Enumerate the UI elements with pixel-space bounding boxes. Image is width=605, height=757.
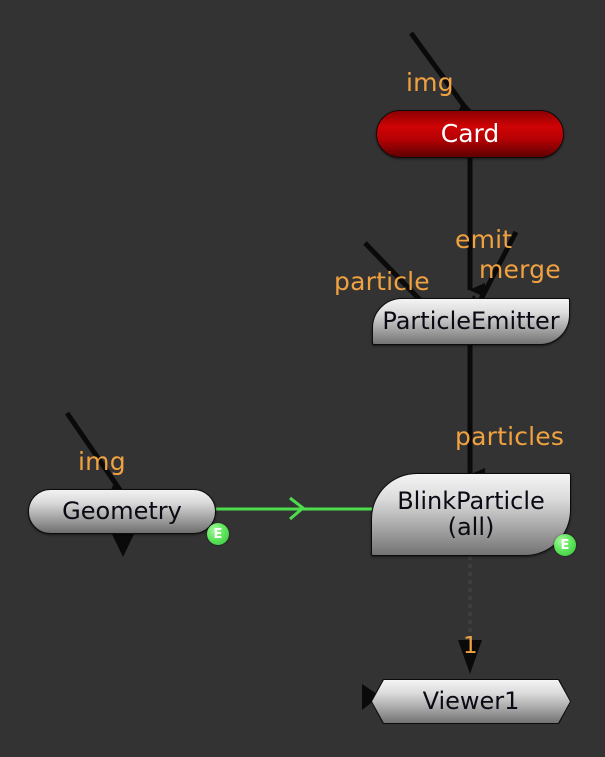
node-viewer1[interactable]: Viewer1 [372,680,570,723]
node-particleemitter-label: ParticleEmitter [382,309,559,334]
node-card-label: Card [441,121,499,148]
edge-label-geometry-img: img [78,447,126,476]
node-graph-canvas[interactable]: img emit merge particle particles img 1 … [0,0,605,757]
edge-stub-geometry-output[interactable] [110,530,136,557]
node-geometry[interactable]: Geometry [28,489,216,534]
node-card[interactable]: Card [376,110,564,158]
edge-label-viewer-input: 1 [463,633,478,659]
node-particleemitter[interactable]: ParticleEmitter [372,298,570,345]
edge-label-card-img: img [406,68,454,97]
edge-label-particles: particles [455,422,564,451]
edge-label-particle: particle [334,267,430,296]
node-geometry-label: Geometry [62,499,182,524]
edge-geometry-to-blinkparticle[interactable] [216,498,381,519]
node-blinkparticle-label-line1: BlinkParticle [397,489,545,514]
node-blinkparticle[interactable]: BlinkParticle (all) [371,473,571,556]
node-viewer1-label: Viewer1 [423,689,520,714]
edge-label-merge: merge [479,255,561,284]
node-blinkparticle-label-line2: (all) [448,515,495,540]
badge-expression-blinkparticle[interactable]: E [554,534,576,556]
badge-expression-geometry[interactable]: E [207,523,229,545]
edge-label-emit: emit [455,225,512,254]
